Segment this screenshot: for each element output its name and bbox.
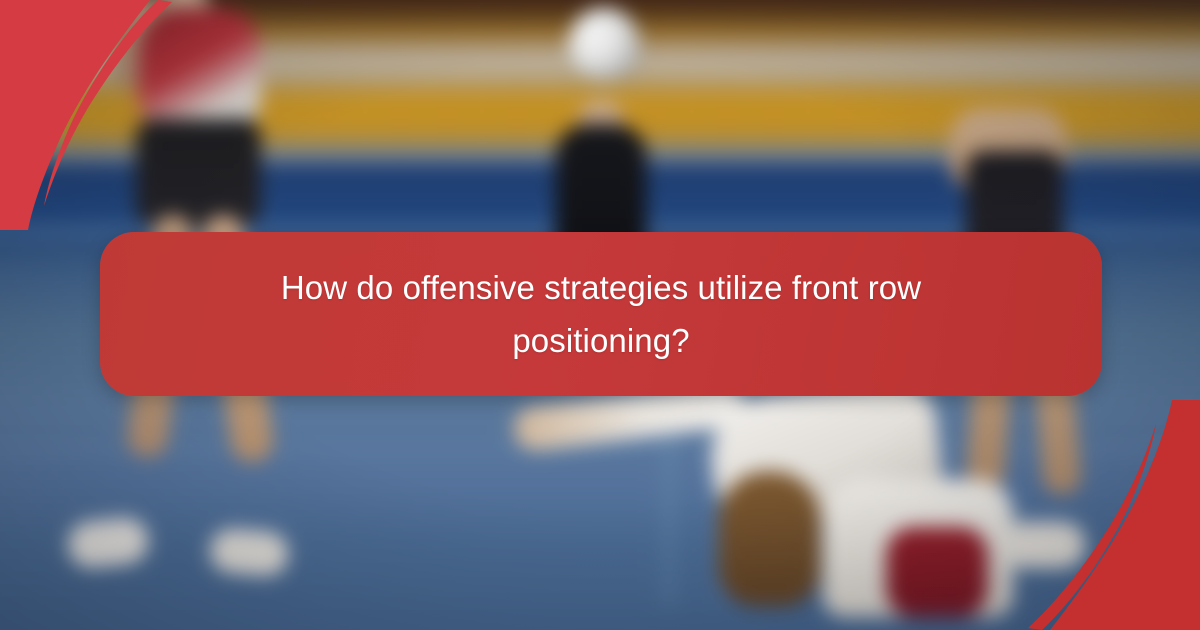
player-head [719,471,821,607]
question-card: How do offensive strategies utilize fron… [0,0,1200,630]
player-shorts [136,119,261,230]
player-jersey-accent [886,527,988,617]
court-line [664,405,675,606]
volleyball-icon [568,8,640,82]
player-shoe [208,527,290,578]
court-line [0,448,1200,453]
question-banner: How do offensive strategies utilize fron… [100,232,1102,396]
player-shoe [1003,522,1086,569]
player-jersey [139,8,261,130]
question-text: How do offensive strategies utilize fron… [211,261,991,368]
